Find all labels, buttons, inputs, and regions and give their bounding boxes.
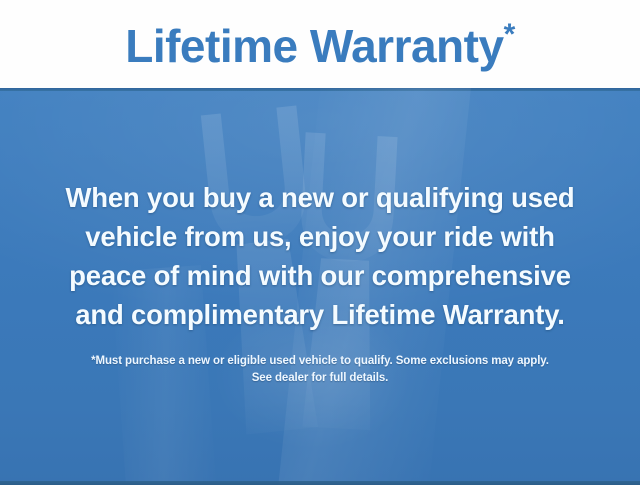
warranty-description: When you buy a new or qualifying used ve…: [0, 178, 640, 334]
disclaimer-line-2: See dealer for full details.: [0, 370, 640, 387]
body-line-4: and complimentary Lifetime Warranty.: [0, 295, 640, 334]
body-line-1: When you buy a new or qualifying used: [0, 178, 640, 217]
page-title: Lifetime Warranty*: [125, 23, 515, 69]
panel-bottom-divider: [0, 481, 640, 485]
body-line-2: vehicle from us, enjoy your ride with: [0, 217, 640, 256]
panel-top-divider: [0, 88, 640, 91]
page-title-text: Lifetime Warranty: [125, 20, 503, 72]
body-line-3: peace of mind with our comprehensive: [0, 256, 640, 295]
disclaimer-text: *Must purchase a new or eligible used ve…: [0, 353, 640, 387]
title-asterisk: *: [504, 18, 515, 51]
lifetime-warranty-banner: Lifetime Warranty*: [0, 0, 640, 485]
disclaimer-line-1: *Must purchase a new or eligible used ve…: [0, 353, 640, 370]
banner-header: Lifetime Warranty*: [0, 0, 640, 88]
